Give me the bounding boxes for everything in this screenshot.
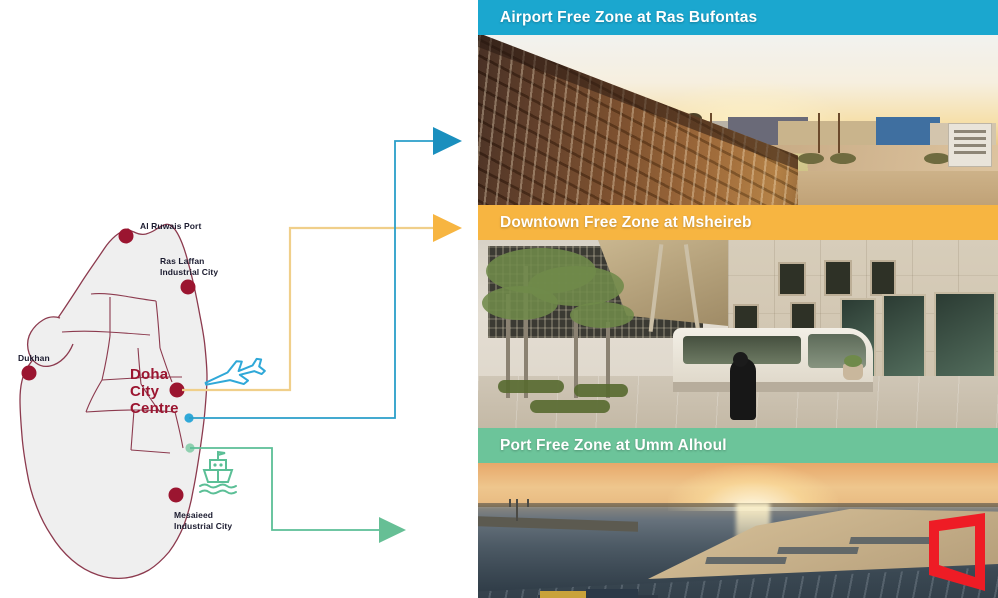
red-quadrilateral-logo[interactable] xyxy=(927,513,989,591)
map-label-doha-line3: Centre xyxy=(130,400,179,417)
map-label-al-ruwais-port: Al Ruwais Port xyxy=(140,221,201,232)
map-label-mesaieed-line1: Mesaieed xyxy=(174,510,213,521)
map-label-ras-laffan-line1: Ras Laffan xyxy=(160,256,204,267)
light-pole xyxy=(818,113,820,153)
slide-canvas: Al Ruwais Port Ras Laffan Industrial Cit… xyxy=(0,0,998,598)
card-port-title: Port Free Zone at Umm Alhoul xyxy=(500,437,727,455)
map-label-doha-line2: City xyxy=(130,383,159,400)
connector-airport-line xyxy=(189,141,434,418)
light-pole xyxy=(838,113,840,153)
card-downtown-photo xyxy=(478,240,998,428)
transmission-tower xyxy=(516,499,518,521)
connector-port-line xyxy=(190,448,380,530)
free-zone-cards: Airport Free Zone at Ras Bufontas xyxy=(478,0,998,598)
map-panel: Al Ruwais Port Ras Laffan Industrial Cit… xyxy=(0,0,478,598)
hedge xyxy=(498,380,564,393)
card-port-photo xyxy=(478,463,998,598)
gantry-crane xyxy=(777,547,859,554)
card-port-header: Port Free Zone at Umm Alhoul xyxy=(478,428,998,463)
card-downtown-title: Downtown Free Zone at Msheireb xyxy=(500,214,752,232)
building-window xyxy=(778,262,806,296)
card-airport-header: Airport Free Zone at Ras Bufontas xyxy=(478,0,998,35)
connector-downtown-arrow xyxy=(433,214,462,242)
hedge xyxy=(530,400,610,413)
gantry-crane xyxy=(849,537,931,544)
hedge xyxy=(574,384,628,397)
map-label-dukhan: Dukhan xyxy=(18,353,50,364)
map-label-doha-line1: Doha xyxy=(130,366,168,383)
connector-airport-arrow xyxy=(433,127,462,155)
map-label-mesaieed-line2: Industrial City xyxy=(174,521,232,532)
shrub xyxy=(798,153,824,164)
gantry-crane xyxy=(705,557,787,564)
pedestrian xyxy=(730,358,756,420)
connector-lines xyxy=(0,0,478,598)
shrub xyxy=(924,153,950,164)
building-window xyxy=(824,260,852,296)
tram-skirt xyxy=(673,382,873,392)
storefront-glass xyxy=(934,292,996,384)
card-port[interactable]: Port Free Zone at Umm Alhoul xyxy=(478,428,998,598)
storefront-glass xyxy=(882,294,926,382)
map-label-ras-laffan-line2: Industrial City xyxy=(160,267,218,278)
entrance-signage xyxy=(948,123,992,167)
card-airport[interactable]: Airport Free Zone at Ras Bufontas xyxy=(478,0,998,205)
building-window xyxy=(870,260,896,296)
connector-port-arrow xyxy=(379,517,406,543)
card-airport-photo xyxy=(478,35,998,205)
connector-downtown-line xyxy=(182,228,434,390)
shrub xyxy=(830,153,856,164)
planter-pot xyxy=(843,364,863,380)
card-airport-title: Airport Free Zone at Ras Bufontas xyxy=(500,9,757,27)
cargo-load xyxy=(540,591,590,598)
card-downtown[interactable]: Downtown Free Zone at Msheireb xyxy=(478,205,998,428)
card-downtown-header: Downtown Free Zone at Msheireb xyxy=(478,205,998,240)
tree-foliage xyxy=(570,302,634,328)
shipping-container xyxy=(586,589,638,598)
tree-foliage xyxy=(482,286,558,320)
logo-shape xyxy=(929,513,985,591)
